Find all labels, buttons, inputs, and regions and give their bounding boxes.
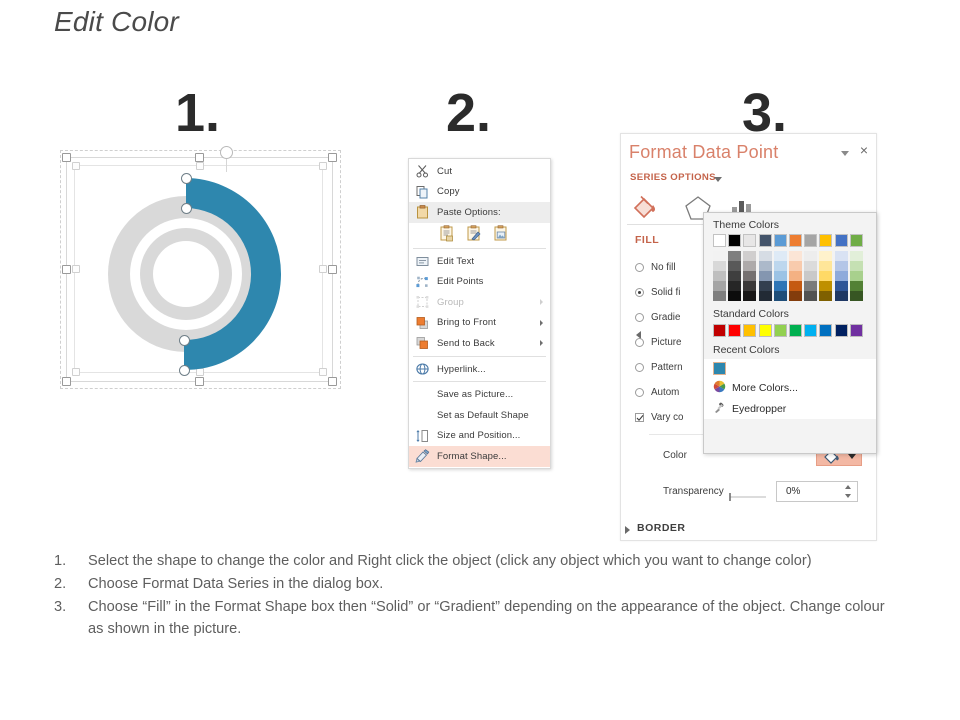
- theme-swatch-gray-variant-2[interactable]: [804, 261, 817, 271]
- theme-swatch-dark-blue-gray-variant-3[interactable]: [759, 271, 772, 281]
- radio-gradient-fill[interactable]: Gradie: [651, 312, 680, 323]
- theme-swatch-orange[interactable]: [789, 234, 802, 247]
- menu-item-label: Save as Picture...: [437, 389, 513, 400]
- color-dropdown-menu[interactable]: Theme Colors Standard Colors Recent Colo…: [703, 212, 877, 454]
- transparency-value: 0%: [786, 486, 800, 497]
- theme-swatch-light-gray-variant-2[interactable]: [743, 261, 756, 271]
- eyedropper-label: Eyedropper: [732, 403, 786, 415]
- menu-item-label: Group: [437, 297, 464, 308]
- theme-swatch-gold-variant-5[interactable]: [819, 291, 832, 301]
- menu-item-label: Set as Default Shape: [437, 410, 529, 421]
- theme-color-column-orange[interactable]: [789, 234, 802, 301]
- instruction-text: Select the shape to change the color and…: [88, 550, 894, 572]
- plot-handle-bottom-left[interactable]: [72, 368, 80, 376]
- copy-icon: [415, 184, 430, 199]
- theme-swatch-orange-variant-2[interactable]: [789, 261, 802, 271]
- theme-color-column-dark-blue-gray[interactable]: [759, 234, 772, 301]
- radio-no-fill[interactable]: No fill: [651, 262, 676, 273]
- spinner-down-icon[interactable]: [845, 494, 851, 498]
- theme-swatch-dark-blue-gray-variant-1[interactable]: [759, 251, 772, 261]
- paste-options-row[interactable]: [409, 223, 550, 246]
- radio-automatic-fill[interactable]: Autom: [651, 387, 679, 398]
- menu-item-size-and-position[interactable]: Size and Position...: [409, 426, 550, 447]
- recent-color-swatch[interactable]: [713, 362, 726, 375]
- menu-item-label: Edit Points: [437, 276, 484, 287]
- submenu-arrow-icon: [540, 299, 543, 305]
- standard-swatch-8[interactable]: [835, 324, 848, 337]
- menu-item-label: Format Shape...: [437, 451, 507, 462]
- menu-separator: [413, 356, 546, 357]
- menu-item-group: Group: [409, 292, 550, 313]
- menu-item-cut[interactable]: Cut: [409, 161, 550, 182]
- clipboard-icon: [415, 205, 430, 220]
- theme-swatch-gold-variant-2[interactable]: [819, 261, 832, 271]
- theme-swatch-orange-variant-3[interactable]: [789, 271, 802, 281]
- menu-item-label: Bring to Front: [437, 317, 496, 328]
- theme-colors-grid[interactable]: [704, 234, 876, 301]
- theme-swatch-white-variant-1[interactable]: [713, 251, 726, 261]
- resize-handle-middle-left[interactable]: [62, 265, 71, 274]
- menu-item-copy[interactable]: Copy: [409, 182, 550, 203]
- transparency-spinner[interactable]: 0%: [776, 481, 858, 502]
- menu-item-set-as-default-shape[interactable]: Set as Default Shape: [409, 405, 550, 426]
- theme-swatch-green-variant-4[interactable]: [850, 281, 863, 291]
- series-options-chevron-icon[interactable]: [714, 177, 722, 182]
- edit-points-icon: [415, 274, 430, 289]
- hyperlink-icon: [415, 362, 430, 377]
- resize-handle-middle-right[interactable]: [328, 265, 337, 274]
- theme-swatch-black[interactable]: [728, 234, 741, 247]
- theme-swatch-royal-blue-variant-1[interactable]: [835, 251, 848, 261]
- menu-item-label: Hyperlink...: [437, 364, 486, 375]
- series-options-label[interactable]: SERIES OPTIONS: [630, 172, 716, 183]
- standard-swatch-5[interactable]: [789, 324, 802, 337]
- fill-section-label: FILL: [635, 234, 659, 246]
- theme-swatch-white-variant-5[interactable]: [713, 291, 726, 301]
- plot-handle-bottom-right[interactable]: [319, 368, 327, 376]
- plot-handle-top-right[interactable]: [319, 162, 327, 170]
- theme-swatch-light-gray-variant-1[interactable]: [743, 251, 756, 261]
- spinner-up-icon[interactable]: [845, 485, 851, 489]
- menu-item-label: Copy: [437, 186, 460, 197]
- theme-swatch-black-variant-5[interactable]: [728, 291, 741, 301]
- radio-picture-fill[interactable]: Picture: [651, 337, 682, 348]
- theme-swatch-gold-variant-3[interactable]: [819, 271, 832, 281]
- paste-picture-icon[interactable]: [493, 225, 509, 242]
- menu-separator: [413, 248, 546, 249]
- standard-swatch-3[interactable]: [759, 324, 772, 337]
- option-label: Vary co: [651, 412, 684, 423]
- theme-swatch-black-variant-3[interactable]: [728, 271, 741, 281]
- menu-item-edit-points[interactable]: Edit Points: [409, 271, 550, 292]
- plot-handle-top-left[interactable]: [72, 162, 80, 170]
- theme-swatch-white-variant-4[interactable]: [713, 281, 726, 291]
- fill-section-header[interactable]: FILL: [635, 230, 659, 248]
- more-colors-label: More Colors...: [732, 382, 798, 394]
- option-label: Picture: [651, 337, 682, 348]
- theme-swatch-orange-variant-4[interactable]: [789, 281, 802, 291]
- theme-swatch-orange-variant-5[interactable]: [789, 291, 802, 301]
- theme-swatch-orange-variant-1[interactable]: [789, 251, 802, 261]
- group-icon: [415, 295, 430, 310]
- step-number-3: 3.: [742, 86, 787, 140]
- donut-hole: [153, 241, 219, 307]
- standard-swatch-0[interactable]: [713, 324, 726, 337]
- checkbox-icon-checked: [635, 413, 644, 422]
- context-menu[interactable]: Cut Copy Paste Options:: [408, 158, 551, 469]
- theme-swatch-gold[interactable]: [819, 234, 832, 247]
- data-point-handle-end-inner[interactable]: [179, 335, 190, 346]
- menu-item-label: Edit Text: [437, 256, 474, 267]
- option-label: Pattern: [651, 362, 683, 373]
- standard-swatch-2[interactable]: [743, 324, 756, 337]
- eyedropper-icon: [713, 401, 726, 417]
- step-number-1: 1.: [175, 86, 220, 140]
- theme-swatch-black-variant-1[interactable]: [728, 251, 741, 261]
- theme-swatch-light-gray[interactable]: [743, 234, 756, 247]
- theme-swatch-blue-variant-3[interactable]: [774, 271, 787, 281]
- instruction-number: 3.: [54, 596, 88, 640]
- theme-color-column-black[interactable]: [728, 234, 741, 301]
- checkbox-vary-colors[interactable]: Vary co: [651, 412, 684, 423]
- theme-swatch-royal-blue-variant-2[interactable]: [835, 261, 848, 271]
- menu-item-label: Cut: [437, 166, 452, 177]
- standard-swatch-7[interactable]: [819, 324, 832, 337]
- theme-color-column-white[interactable]: [713, 234, 726, 301]
- resize-handle-top-right[interactable]: [328, 153, 337, 162]
- edit-text-icon: [415, 254, 430, 269]
- resize-handle-top-center[interactable]: [195, 153, 204, 162]
- more-colors-item[interactable]: More Colors...: [704, 377, 876, 398]
- rotation-handle[interactable]: [220, 146, 233, 159]
- resize-handle-bottom-left[interactable]: [62, 377, 71, 386]
- radio-icon: [635, 363, 644, 372]
- instruction-item: 2. Choose Format Data Series in the dial…: [54, 573, 894, 595]
- radio-icon: [635, 263, 644, 272]
- option-label: Gradie: [651, 312, 680, 323]
- paste-merge-formatting-icon[interactable]: [466, 225, 482, 242]
- send-to-back-icon: [415, 336, 430, 351]
- theme-swatch-light-gray-variant-3[interactable]: [743, 271, 756, 281]
- theme-swatch-green-variant-1[interactable]: [850, 251, 863, 261]
- menu-item-label: Paste Options:: [437, 207, 501, 218]
- radio-icon-selected: [635, 288, 644, 297]
- color-wheel-icon: [713, 380, 726, 396]
- theme-color-column-blue[interactable]: [774, 234, 787, 301]
- theme-swatch-green-variant-3[interactable]: [850, 271, 863, 281]
- theme-swatch-blue[interactable]: [774, 234, 787, 247]
- theme-swatch-dark-blue-gray-variant-4[interactable]: [759, 281, 772, 291]
- format-shape-icon: [415, 449, 430, 464]
- chevron-down-icon[interactable]: [841, 151, 849, 156]
- theme-swatch-gold-variant-4[interactable]: [819, 281, 832, 291]
- page-title: Edit Color: [54, 6, 179, 38]
- theme-swatch-gray-variant-1[interactable]: [804, 251, 817, 261]
- theme-swatch-dark-blue-gray-variant-5[interactable]: [759, 291, 772, 301]
- standard-colors-row[interactable]: [704, 323, 876, 337]
- data-point-handle-start-outer[interactable]: [181, 173, 192, 184]
- radio-icon: [635, 313, 644, 322]
- instruction-number: 2.: [54, 573, 88, 595]
- step-number-2: 2.: [446, 86, 491, 140]
- theme-color-column-gold[interactable]: [819, 234, 832, 301]
- standard-swatch-4[interactable]: [774, 324, 787, 337]
- theme-color-column-light-gray[interactable]: [743, 234, 756, 301]
- theme-swatch-green-variant-2[interactable]: [850, 261, 863, 271]
- theme-swatch-royal-blue[interactable]: [835, 234, 848, 247]
- paste-keep-source-formatting-icon[interactable]: [439, 225, 455, 242]
- theme-color-column-gray[interactable]: [804, 234, 817, 301]
- instruction-text: Choose “Fill” in the Format Shape box th…: [88, 596, 894, 640]
- plot-handle-middle-left[interactable]: [72, 265, 80, 273]
- eyedropper-item[interactable]: Eyedropper: [704, 398, 876, 419]
- submenu-arrow-icon: [540, 320, 543, 326]
- theme-color-column-royal-blue[interactable]: [835, 234, 848, 301]
- theme-swatch-blue-variant-1[interactable]: [774, 251, 787, 261]
- theme-swatch-black-variant-4[interactable]: [728, 281, 741, 291]
- menu-item-label: Send to Back: [437, 338, 495, 349]
- color-label: Color: [663, 450, 687, 461]
- theme-swatch-gray-variant-5[interactable]: [804, 291, 817, 301]
- resize-handle-bottom-right[interactable]: [328, 377, 337, 386]
- slide-canvas: Edit Color 1. 2. 3.: [0, 0, 960, 720]
- instruction-number: 1.: [54, 550, 88, 572]
- donut-chart[interactable]: [86, 162, 316, 382]
- standard-swatch-6[interactable]: [804, 324, 817, 337]
- donut-chart-svg: [86, 162, 316, 382]
- theme-swatch-gray-variant-4[interactable]: [804, 281, 817, 291]
- close-icon[interactable]: ×: [860, 143, 868, 157]
- theme-swatch-gray[interactable]: [804, 234, 817, 247]
- standard-swatch-1[interactable]: [728, 324, 741, 337]
- menu-item-label: Size and Position...: [437, 430, 520, 441]
- radio-icon: [635, 388, 644, 397]
- fill-bucket-icon[interactable]: [631, 192, 661, 227]
- recent-colors-header: Recent Colors: [704, 337, 876, 359]
- transparency-label: Transparency: [663, 486, 724, 497]
- theme-swatch-white[interactable]: [713, 234, 726, 247]
- menu-item-edit-text[interactable]: Edit Text: [409, 251, 550, 272]
- standard-colors-header: Standard Colors: [704, 301, 876, 323]
- data-point-handle-start-inner[interactable]: [181, 203, 192, 214]
- submenu-arrow-icon: [540, 340, 543, 346]
- theme-swatch-blue-variant-5[interactable]: [774, 291, 787, 301]
- instructions-list: 1. Select the shape to change the color …: [54, 550, 894, 641]
- menu-item-hyperlink[interactable]: Hyperlink...: [409, 359, 550, 380]
- theme-swatch-black-variant-2[interactable]: [728, 261, 741, 271]
- standard-swatch-9[interactable]: [850, 324, 863, 337]
- radio-solid-fill[interactable]: Solid fi: [651, 287, 680, 298]
- option-label: Solid fi: [651, 287, 680, 298]
- data-point-handle-end-outer[interactable]: [179, 365, 190, 376]
- theme-swatch-light-gray-variant-5[interactable]: [743, 291, 756, 301]
- recent-colors-row[interactable]: [704, 359, 876, 377]
- collapse-triangle-icon: [625, 526, 630, 534]
- menu-item-save-as-picture[interactable]: Save as Picture...: [409, 384, 550, 405]
- menu-item-format-shape[interactable]: Format Shape...: [409, 446, 550, 467]
- instruction-item: 3. Choose “Fill” in the Format Shape box…: [54, 596, 894, 640]
- pane-title: Format Data Point: [629, 142, 778, 163]
- chevron-down-icon[interactable]: [848, 454, 856, 459]
- theme-swatch-white-variant-3[interactable]: [713, 271, 726, 281]
- theme-swatch-dark-blue-gray[interactable]: [759, 234, 772, 247]
- transparency-slider[interactable]: [726, 489, 776, 499]
- menu-item-paste-options[interactable]: Paste Options:: [409, 202, 550, 223]
- theme-swatch-royal-blue-variant-5[interactable]: [835, 291, 848, 301]
- menu-separator: [413, 381, 546, 382]
- theme-swatch-gold-variant-1[interactable]: [819, 251, 832, 261]
- option-label: No fill: [651, 262, 676, 273]
- menu-item-send-to-back[interactable]: Send to Back: [409, 333, 550, 354]
- plot-handle-middle-right[interactable]: [319, 265, 327, 273]
- theme-swatch-blue-variant-2[interactable]: [774, 261, 787, 271]
- theme-swatch-blue-variant-4[interactable]: [774, 281, 787, 291]
- theme-swatch-green[interactable]: [850, 234, 863, 247]
- size-position-icon: [415, 428, 430, 443]
- instruction-item: 1. Select the shape to change the color …: [54, 550, 894, 572]
- theme-swatch-royal-blue-variant-3[interactable]: [835, 271, 848, 281]
- resize-handle-top-left[interactable]: [62, 153, 71, 162]
- instruction-text: Choose Format Data Series in the dialog …: [88, 573, 894, 595]
- radio-pattern-fill[interactable]: Pattern: [651, 362, 683, 373]
- theme-swatch-dark-blue-gray-variant-2[interactable]: [759, 261, 772, 271]
- option-label: Autom: [651, 387, 679, 398]
- theme-swatch-gray-variant-3[interactable]: [804, 271, 817, 281]
- border-section-label: BORDER: [637, 522, 686, 534]
- theme-swatch-royal-blue-variant-4[interactable]: [835, 281, 848, 291]
- theme-swatch-white-variant-2[interactable]: [713, 261, 726, 271]
- scissors-icon: [415, 164, 430, 179]
- theme-swatch-light-gray-variant-4[interactable]: [743, 281, 756, 291]
- bring-to-front-icon: [415, 315, 430, 330]
- chart-selection-area[interactable]: [58, 148, 343, 390]
- radio-icon: [635, 338, 644, 347]
- theme-colors-header: Theme Colors: [704, 213, 876, 234]
- theme-color-column-green[interactable]: [850, 234, 863, 301]
- menu-item-bring-to-front[interactable]: Bring to Front: [409, 313, 550, 334]
- theme-swatch-green-variant-5[interactable]: [850, 291, 863, 301]
